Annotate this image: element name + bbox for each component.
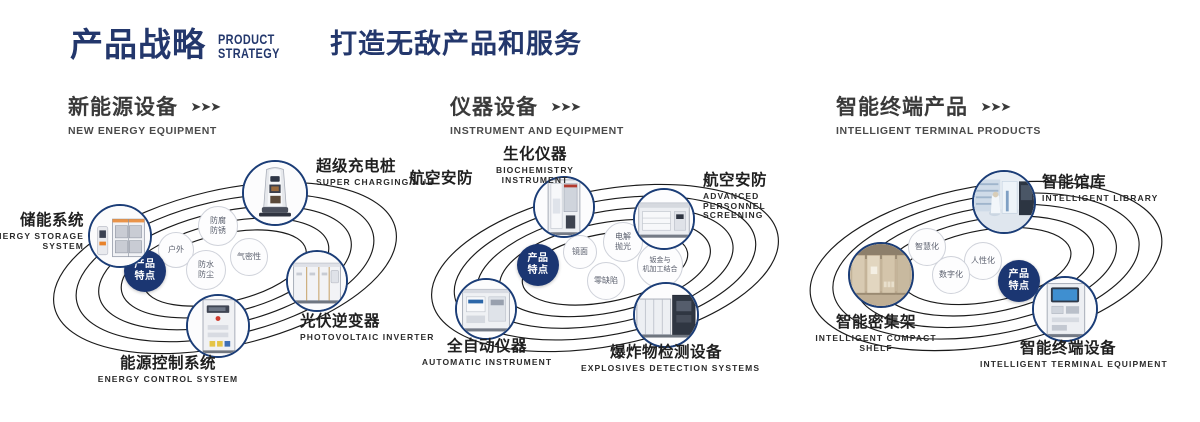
feature-line2: 机加工结合 xyxy=(643,265,678,273)
section-heading-instrument: 仪器设备 ➤➤➤ INSTRUMENT AND EQUIPMENT xyxy=(450,96,624,137)
caption-advanced-personnel-screening: 航空安防 ADVANCED PERSONNEL SCREENING xyxy=(703,172,799,221)
feature-line2: 防锈 xyxy=(210,226,226,235)
caption-energy-control-system: 能源控制系统 ENERGY CONTROL SYSTEM xyxy=(78,355,258,385)
page-title-en: PRODUCT STRATEGY xyxy=(218,32,285,60)
section-heading-new-energy: 新能源设备 ➤➤➤ NEW ENERGY EQUIPMENT xyxy=(68,96,220,137)
caption-en: INTELLIGENT COMPACT SHELF xyxy=(811,334,941,354)
caption-cn: 智能密集架 xyxy=(796,314,956,332)
caption-explosives-detection-systems: 爆炸物检测设备 EXPLOSIVES DETECTION SYSTEMS xyxy=(581,344,751,374)
caption-en: INTELLIGENT LIBRARY xyxy=(1042,194,1158,204)
caption-cn: 智能馆库 xyxy=(1042,174,1158,192)
caption-en: AUTOMATIC INSTRUMENT xyxy=(407,358,567,368)
section-title-en: NEW ENERGY EQUIPMENT xyxy=(68,125,220,137)
node-super-charging-hub[interactable] xyxy=(242,160,308,226)
chevron-right-triple-icon: ➤➤➤ xyxy=(190,99,220,115)
orbit-cluster-intelligent-terminal: 智慧化 人性化 数字化 产品特点 智能馆 xyxy=(800,150,1200,390)
caption-en: EXPLOSIVES DETECTION SYSTEMS xyxy=(581,364,751,374)
personnel-screening-scanner-image xyxy=(635,190,693,248)
section-title-cn: 仪器设备 xyxy=(450,96,538,119)
feature-bubble: 防水防尘 xyxy=(186,250,226,290)
feature-line2: 抛光 xyxy=(615,242,631,251)
feature-bubble: 防腐防锈 xyxy=(198,206,238,246)
caption-cn: 智能终端设备 xyxy=(980,340,1156,358)
feature-line1: 电解 xyxy=(615,232,631,241)
section-heading-intelligent-terminal: 智能终端产品 ➤➤➤ INTELLIGENT TERMINAL PRODUCTS xyxy=(836,96,1041,137)
node-energy-control-system[interactable] xyxy=(186,294,250,358)
section-title-en: INSTRUMENT AND EQUIPMENT xyxy=(450,125,624,137)
node-intelligent-library[interactable] xyxy=(972,170,1036,234)
feature-line1: 镜面 xyxy=(572,247,588,256)
caption-biochemistry-instrument: 生化仪器 BIOCHEMISTRY INSTRUMENT xyxy=(473,146,597,185)
node-automatic-instrument[interactable] xyxy=(455,278,517,340)
feature-line1: 防腐 xyxy=(210,216,226,225)
energy-control-cabinet-image xyxy=(188,296,248,356)
battery-energy-storage-cabinet-image xyxy=(90,206,150,266)
node-energy-storage-system[interactable] xyxy=(88,204,152,268)
caption-aviation-security-left: 航空安防 xyxy=(409,170,473,188)
caption-en: ENERGY CONTROL SYSTEM xyxy=(78,375,258,385)
feature-line1: 钣金与 xyxy=(650,256,671,264)
node-intelligent-terminal-equipment[interactable] xyxy=(1032,276,1098,342)
caption-en: INTELLIGENT TERMINAL EQUIPMENT xyxy=(980,360,1156,370)
section-title-cn: 智能终端产品 xyxy=(836,96,968,119)
node-photovoltaic-inverter[interactable] xyxy=(286,250,348,312)
feature-line1: 智慧化 xyxy=(915,242,939,251)
feature-bubble: 数字化 xyxy=(932,256,970,294)
page-title-en-line1: PRODUCT xyxy=(218,32,285,46)
caption-cn: 全自动仪器 xyxy=(407,338,567,356)
node-explosives-detection-systems[interactable] xyxy=(633,282,699,348)
node-intelligent-compact-shelf[interactable] xyxy=(848,242,914,308)
feature-line2: 防尘 xyxy=(198,270,214,279)
feature-bubble: 气密性 xyxy=(230,238,268,276)
caption-cn: 能源控制系统 xyxy=(78,355,258,373)
caption-energy-storage-system: 储能系统 ENERGY STORAGE SYSTEM xyxy=(0,212,84,251)
core-bubble-product-features: 产品特点 xyxy=(517,244,559,286)
orbit-cluster-new-energy: 户外 防腐防锈 防水防尘 气密性 产品特点 储能系统 ENERGY STORAG… xyxy=(30,150,430,390)
node-advanced-personnel-screening[interactable] xyxy=(633,188,695,250)
chevron-right-triple-icon: ➤➤➤ xyxy=(980,99,1010,115)
caption-cn: 航空安防 xyxy=(409,170,473,188)
intelligent-terminal-kiosk-image xyxy=(1034,278,1096,340)
intelligent-library-room-image xyxy=(974,172,1034,232)
caption-en: ADVANCED PERSONNEL SCREENING xyxy=(703,192,799,221)
page-title-en-line2: STRATEGY xyxy=(218,46,285,60)
feature-bubble: 镜面 xyxy=(563,235,597,269)
photovoltaic-inverter-cabinet-image xyxy=(288,252,346,310)
caption-cn: 航空安防 xyxy=(703,172,799,190)
feature-line1: 数字化 xyxy=(939,270,963,279)
orbit-cluster-instrument: 镜面 电解抛光 钣金与机加工结合 零缺陷 产品特点 航空安防 生化仪器 BIOC… xyxy=(415,150,815,390)
caption-en: BIOCHEMISTRY INSTRUMENT xyxy=(487,166,583,186)
automatic-instrument-image xyxy=(457,280,515,338)
core-label-line2: 特点 xyxy=(135,271,156,282)
feature-bubble: 零缺陷 xyxy=(587,262,625,300)
biochemistry-analyzer-image xyxy=(535,178,593,236)
caption-cn: 储能系统 xyxy=(0,212,84,230)
core-label-line1: 产品 xyxy=(528,253,549,264)
caption-cn: 爆炸物检测设备 xyxy=(581,344,751,362)
page-title-cn: 产品战略 xyxy=(70,28,206,61)
caption-en: ENERGY STORAGE SYSTEM xyxy=(0,232,84,252)
feature-line1: 人性化 xyxy=(971,256,995,265)
page-subtitle: 打造无敌产品和服务 xyxy=(330,31,582,58)
section-title-cn: 新能源设备 xyxy=(68,96,178,119)
caption-cn: 生化仪器 xyxy=(473,146,597,164)
section-title-en: INTELLIGENT TERMINAL PRODUCTS xyxy=(836,125,1041,137)
caption-intelligent-library: 智能馆库 INTELLIGENT LIBRARY xyxy=(1042,174,1158,204)
caption-intelligent-terminal-equipment: 智能终端设备 INTELLIGENT TERMINAL EQUIPMENT xyxy=(980,340,1156,370)
chevron-right-triple-icon: ➤➤➤ xyxy=(550,99,580,115)
feature-line1: 零缺陷 xyxy=(594,276,618,285)
ev-super-charging-pile-image xyxy=(244,162,306,224)
caption-intelligent-compact-shelf: 智能密集架 INTELLIGENT COMPACT SHELF xyxy=(796,314,956,353)
page-header: 产品战略 PRODUCT STRATEGY 打造无敌产品和服务 xyxy=(0,0,1200,90)
core-label-line2: 特点 xyxy=(528,265,549,276)
intelligent-compact-shelving-image xyxy=(850,244,912,306)
caption-automatic-instrument: 全自动仪器 AUTOMATIC INSTRUMENT xyxy=(407,338,567,368)
core-label-line1: 产品 xyxy=(1009,269,1030,280)
core-label-line2: 特点 xyxy=(1009,281,1030,292)
feature-line1: 防水 xyxy=(198,260,214,269)
explosives-detection-system-image xyxy=(635,284,697,346)
feature-line1: 气密性 xyxy=(237,252,261,261)
feature-line1: 户外 xyxy=(168,245,184,254)
